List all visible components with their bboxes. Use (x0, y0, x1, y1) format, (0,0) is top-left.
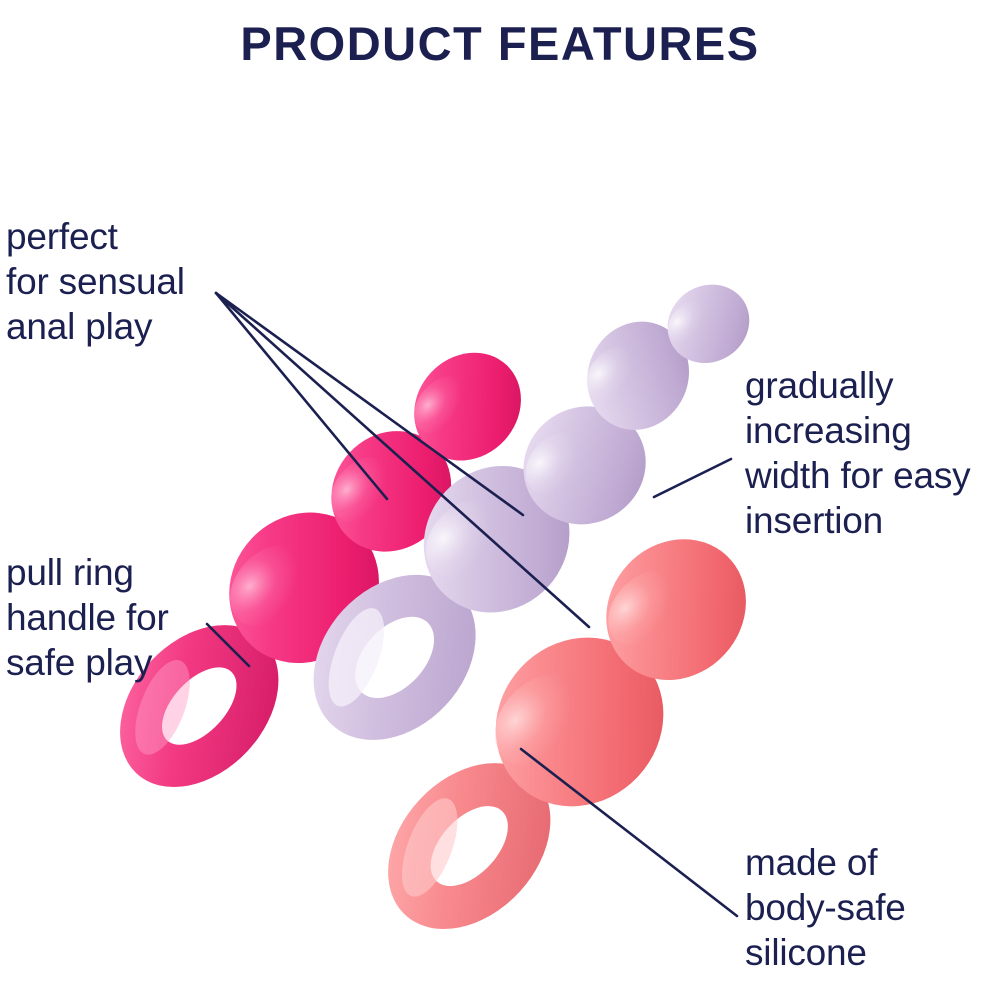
callout-pull-ring-handle-for-safe-play: pull ring handle for safe play (6, 550, 169, 685)
product-features-infographic: PRODUCT FEATURES (0, 0, 1000, 1000)
callout-perfect-for-sensual-anal-play: perfect for sensual anal play (6, 214, 185, 349)
callout-gradually-increasing-width-for-easy-insertion: gradually increasing width for easy inse… (745, 363, 970, 544)
callout-made-of-body-safe-silicone: made of body-safe silicone (745, 840, 906, 975)
product-coral (344, 505, 790, 967)
